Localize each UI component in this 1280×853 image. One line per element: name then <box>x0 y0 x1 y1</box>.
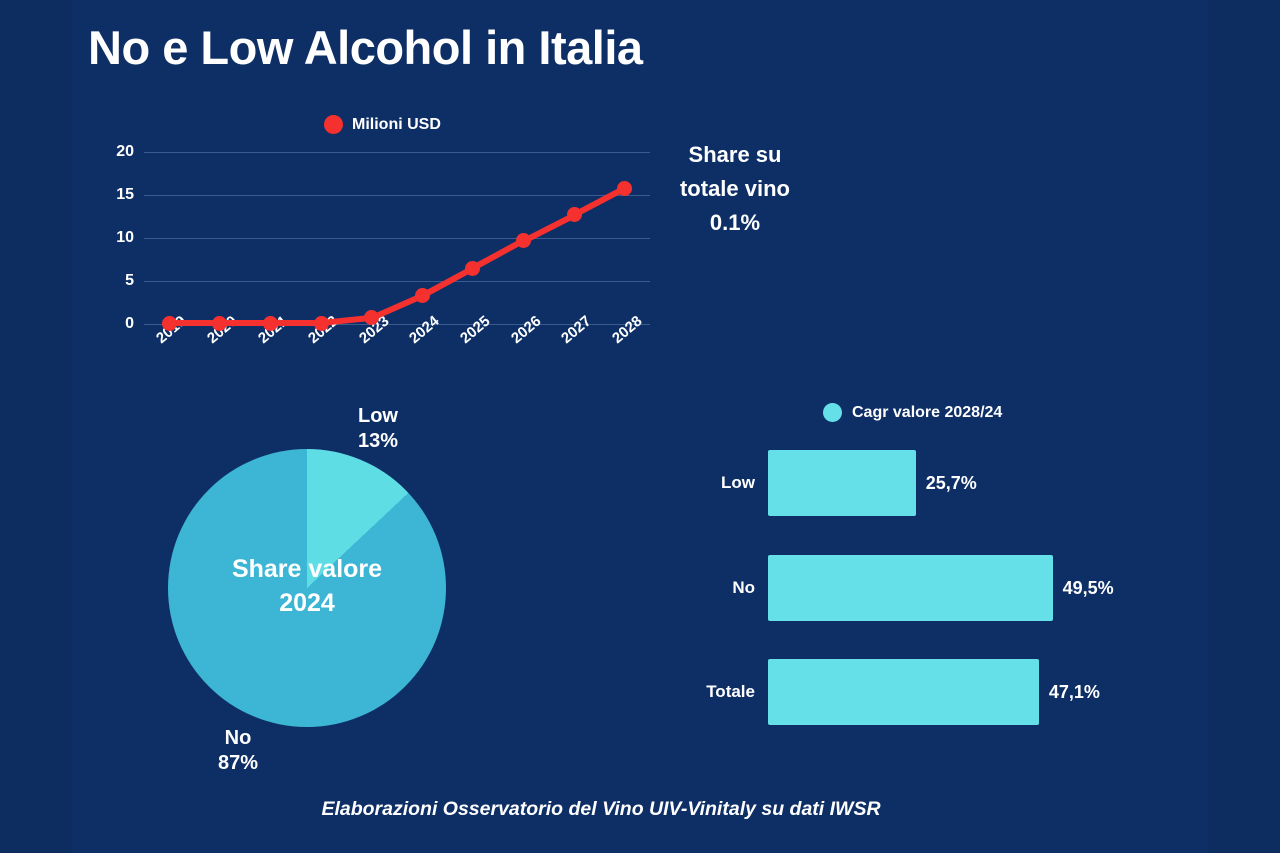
data-point[interactable] <box>567 207 582 222</box>
bar-value-label: 25,7% <box>926 473 977 494</box>
share-annotation-value: 0.1% <box>655 206 815 240</box>
bar-row: Totale47,1% <box>668 659 1228 725</box>
bar-row: No49,5% <box>668 555 1228 621</box>
data-point[interactable] <box>465 261 480 276</box>
bar-chart-legend: Cagr valore 2028/24 <box>823 403 1002 422</box>
line-chart: Milioni USD 0510152020192020202120222023… <box>96 110 666 385</box>
bar-row: Low25,7% <box>668 450 1228 516</box>
data-point[interactable] <box>415 288 430 303</box>
legend-label-milioni-usd: Milioni USD <box>352 116 441 134</box>
bar-track: 25,7% <box>768 450 1228 516</box>
bar-category-label: Totale <box>668 682 768 702</box>
bar-category-label: Low <box>668 473 768 493</box>
y-axis-tick-label: 15 <box>116 186 134 204</box>
data-point[interactable] <box>263 316 278 331</box>
data-point[interactable] <box>162 316 177 331</box>
x-axis-tick-label: 2027 <box>558 313 594 347</box>
y-axis-tick-label: 10 <box>116 229 134 247</box>
bar-category-label: No <box>668 578 768 598</box>
legend-label-cagr: Cagr valore 2028/24 <box>852 404 1002 422</box>
pie-label-no-value: 87% <box>200 751 276 776</box>
pie-chart: Share valore 2024 <box>168 449 446 727</box>
pie-label-low-name: Low <box>340 404 416 429</box>
infographic-poster: No e Low Alcohol in Italia Milioni USD 0… <box>0 0 1280 853</box>
y-axis-tick-label: 5 <box>125 272 134 290</box>
share-annotation: Share su totale vino 0.1% <box>655 138 815 240</box>
left-edge-panel <box>0 0 72 853</box>
line-plot-area: 0510152020192020202120222023202420252026… <box>144 152 650 324</box>
pie-center-label-line2: 2024 <box>168 587 446 621</box>
y-axis-tick-label: 20 <box>116 143 134 161</box>
page-title: No e Low Alcohol in Italia <box>88 20 643 75</box>
gridline: 5 <box>144 281 650 282</box>
pie-label-low-value: 13% <box>340 429 416 454</box>
data-point[interactable] <box>314 316 329 331</box>
bar-value-label: 47,1% <box>1049 682 1100 703</box>
share-annotation-line1: Share su <box>655 138 815 172</box>
pie-label-no: No 87% <box>200 726 276 776</box>
bar-fill[interactable] <box>768 450 916 516</box>
data-point[interactable] <box>516 233 531 248</box>
data-point[interactable] <box>212 316 227 331</box>
y-axis-tick-label: 0 <box>125 315 134 333</box>
pie-label-low: Low 13% <box>340 404 416 454</box>
gridline: 20 <box>144 152 650 153</box>
legend-marker-icon <box>823 403 842 422</box>
x-axis-tick-label: 2028 <box>609 313 645 347</box>
gridline: 15 <box>144 195 650 196</box>
x-axis-tick-label: 2024 <box>406 313 442 347</box>
pie-center-label: Share valore 2024 <box>168 553 446 621</box>
bar-fill[interactable] <box>768 555 1053 621</box>
bar-value-label: 49,5% <box>1063 578 1114 599</box>
bar-track: 49,5% <box>768 555 1228 621</box>
pie-center-label-line1: Share valore <box>168 553 446 587</box>
line-chart-legend: Milioni USD <box>324 115 441 134</box>
share-annotation-line2: totale vino <box>655 172 815 206</box>
bar-fill[interactable] <box>768 659 1039 725</box>
x-axis-tick-label: 2025 <box>457 313 493 347</box>
data-point[interactable] <box>617 181 632 196</box>
pie-label-no-name: No <box>200 726 276 751</box>
gridline: 10 <box>144 238 650 239</box>
bar-track: 47,1% <box>768 659 1228 725</box>
bar-chart: Cagr valore 2028/24 Low25,7%No49,5%Total… <box>668 398 1228 748</box>
x-axis-tick-label: 2026 <box>508 313 544 347</box>
footer-credit: Elaborazioni Osservatorio del Vino UIV-V… <box>0 798 1280 821</box>
legend-marker-icon <box>324 115 343 134</box>
